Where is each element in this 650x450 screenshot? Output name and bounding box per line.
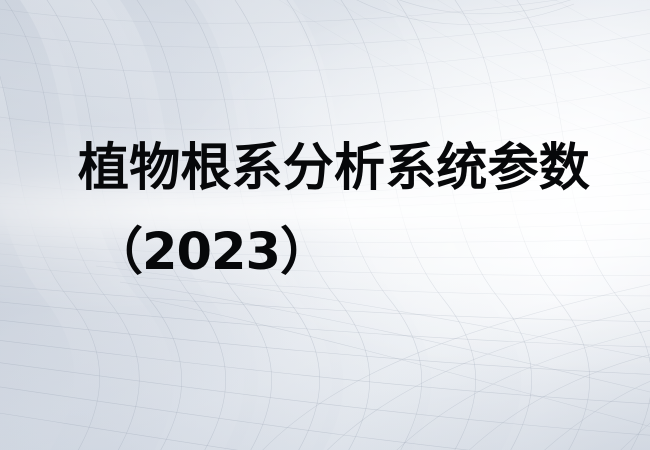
- ribbon-contours-left: [0, 0, 650, 450]
- arc-detail-top: [336, 0, 592, 24]
- title-line-year: （2023）: [92, 227, 330, 278]
- mesh-lines-upper: [0, 0, 650, 193]
- background-base-gradient: [0, 0, 650, 450]
- background-wash: [0, 0, 650, 450]
- background-vignette: [0, 0, 650, 450]
- mesh-lines-topright: [248, 0, 650, 196]
- mesh-lines-diagonal: [96, 266, 650, 450]
- mesh-lines-lower: [0, 284, 650, 450]
- title-block: 植物根系分析系统参数 （2023）: [0, 0, 650, 450]
- title-slide: 植物根系分析系统参数 （2023）: [0, 0, 650, 450]
- mesh-lines-converging: [0, 168, 650, 296]
- ribbon-group-left: [0, 0, 521, 450]
- background-light-streak: [0, 0, 650, 450]
- background-ribbon-artwork: [0, 0, 650, 450]
- title-line-primary: 植物根系分析系统参数: [78, 143, 590, 194]
